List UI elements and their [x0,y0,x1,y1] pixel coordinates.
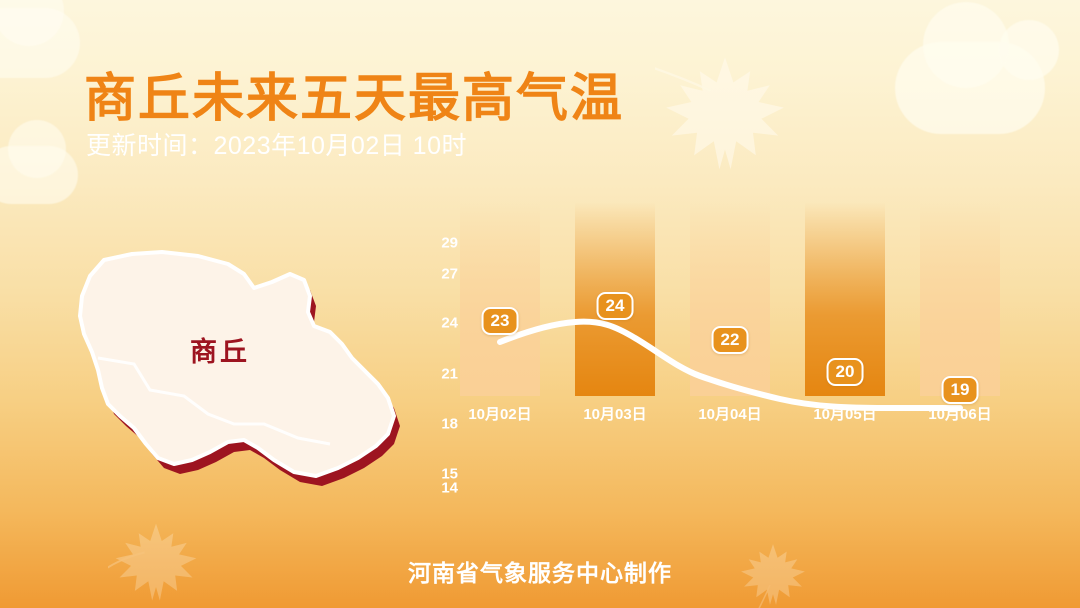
cloud-icon [0,8,80,78]
y-tick-21: 21 [424,366,458,383]
y-tick-24: 24 [424,315,458,332]
weather-infographic: 商丘未来五天最高气温 更新时间：2023年10月02日 10时 商丘 29 27… [0,0,1080,608]
shangqiu-map: 商丘 [58,238,410,500]
x-tick-day-1: 10月02日 [445,403,555,424]
update-time-text: 更新时间：2023年10月02日 10时 [86,126,467,162]
x-tick-day-2: 10月03日 [560,403,670,424]
maple-leaf-icon [655,46,795,186]
map-region-label: 商丘 [190,330,250,369]
value-badge-day-2: 24 [597,292,634,320]
x-tick-day-3: 10月04日 [675,403,785,424]
value-badge-day-5: 19 [942,376,979,404]
cloud-icon [895,42,1045,134]
y-axis: 29 27 24 21 18 15 14 [418,186,458,516]
cloud-icon [0,146,78,204]
temperature-chart: 29 27 24 21 18 15 14 23 24 22 20 19 10月0… [410,186,1030,516]
y-tick-27: 27 [424,266,458,283]
value-badge-day-1: 23 [482,307,519,335]
map-shape [58,238,410,500]
x-tick-day-4: 10月05日 [790,403,900,424]
y-tick-14: 14 [424,480,458,497]
y-tick-29: 29 [424,235,458,252]
bar-day-1 [460,202,540,396]
bar-day-5 [920,202,1000,396]
page-title: 商丘未来五天最高气温 [84,56,624,131]
footer-attribution: 河南省气象服务中心制作 [0,554,1080,588]
value-badge-day-3: 22 [712,326,749,354]
x-tick-day-5: 10月06日 [905,403,1015,424]
bar-day-3 [690,202,770,396]
value-badge-day-4: 20 [827,358,864,386]
